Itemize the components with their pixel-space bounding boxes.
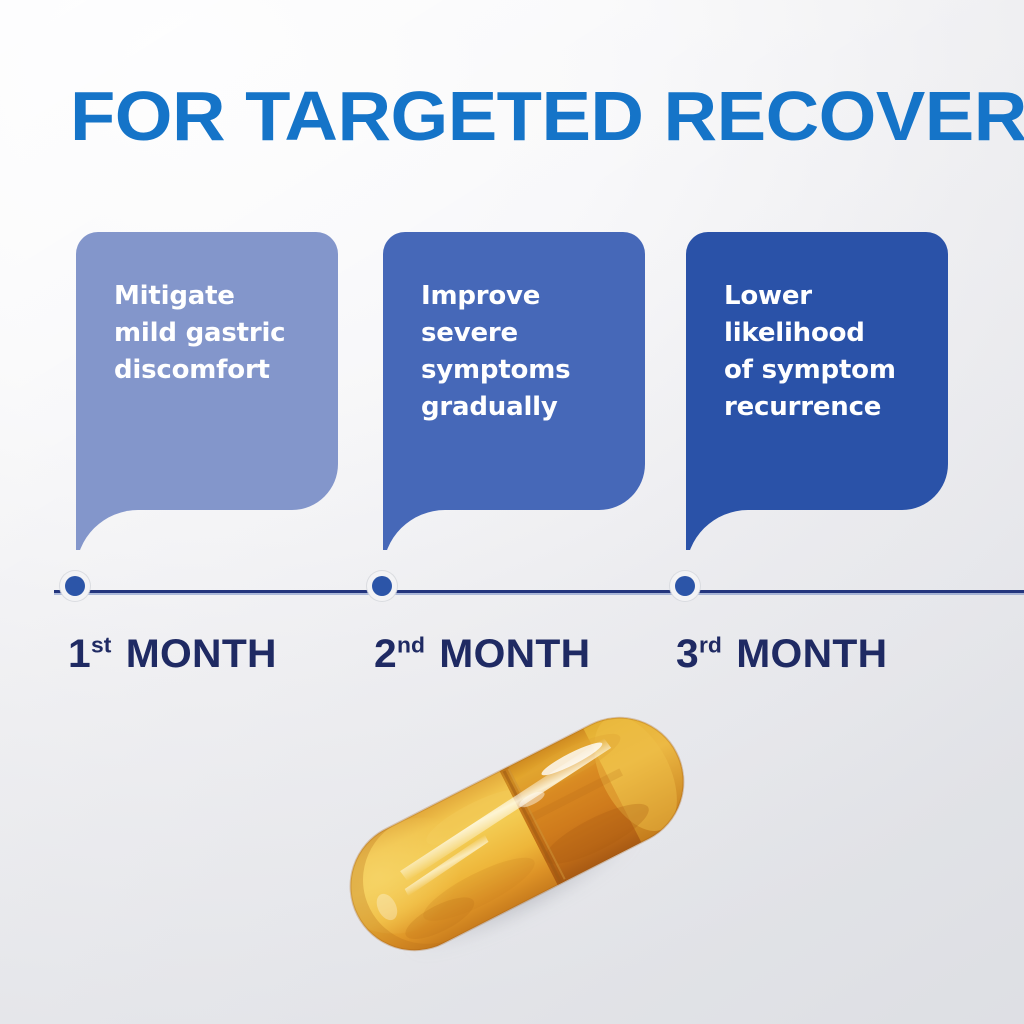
month-number: 3 [676,632,699,676]
timeline-track-highlight [54,593,1024,595]
page-title: FOR TARGETED RECOVERY [70,80,1024,152]
timeline-label-month-2: 2nd MONTH [374,632,590,676]
timeline-dot-month-3 [675,576,695,596]
month-number: 1 [68,632,91,676]
capsule-pill-icon [328,696,705,973]
timeline-dot-month-2 [372,576,392,596]
product-image [330,712,710,952]
month-unit: MONTH [439,632,590,676]
month-unit: MONTH [126,632,277,676]
timeline-label-month-3: 3rd MONTH [676,632,887,676]
benefit-card-month-1: Mitigate mild gastric discomfort [76,232,338,550]
month-number: 2 [374,632,397,676]
benefit-card-month-2: Improve severe symptoms gradually [383,232,645,550]
month-ordinal-suffix: rd [699,633,722,658]
benefit-card-text: Improve severe symptoms gradually [421,278,635,426]
benefit-card-month-3: Lower likelihood of symptom recurrence [686,232,948,550]
month-unit: MONTH [736,632,887,676]
timeline-label-month-1: 1st MONTH [68,632,277,676]
benefit-card-text: Lower likelihood of symptom recurrence [724,278,938,426]
timeline-dot-month-1 [65,576,85,596]
month-ordinal-suffix: nd [397,633,425,658]
promo-graphic-canvas: FOR TARGETED RECOVERY Mitigate mild gast… [0,0,1024,1024]
benefit-card-text: Mitigate mild gastric discomfort [114,278,328,389]
month-ordinal-suffix: st [91,633,111,658]
